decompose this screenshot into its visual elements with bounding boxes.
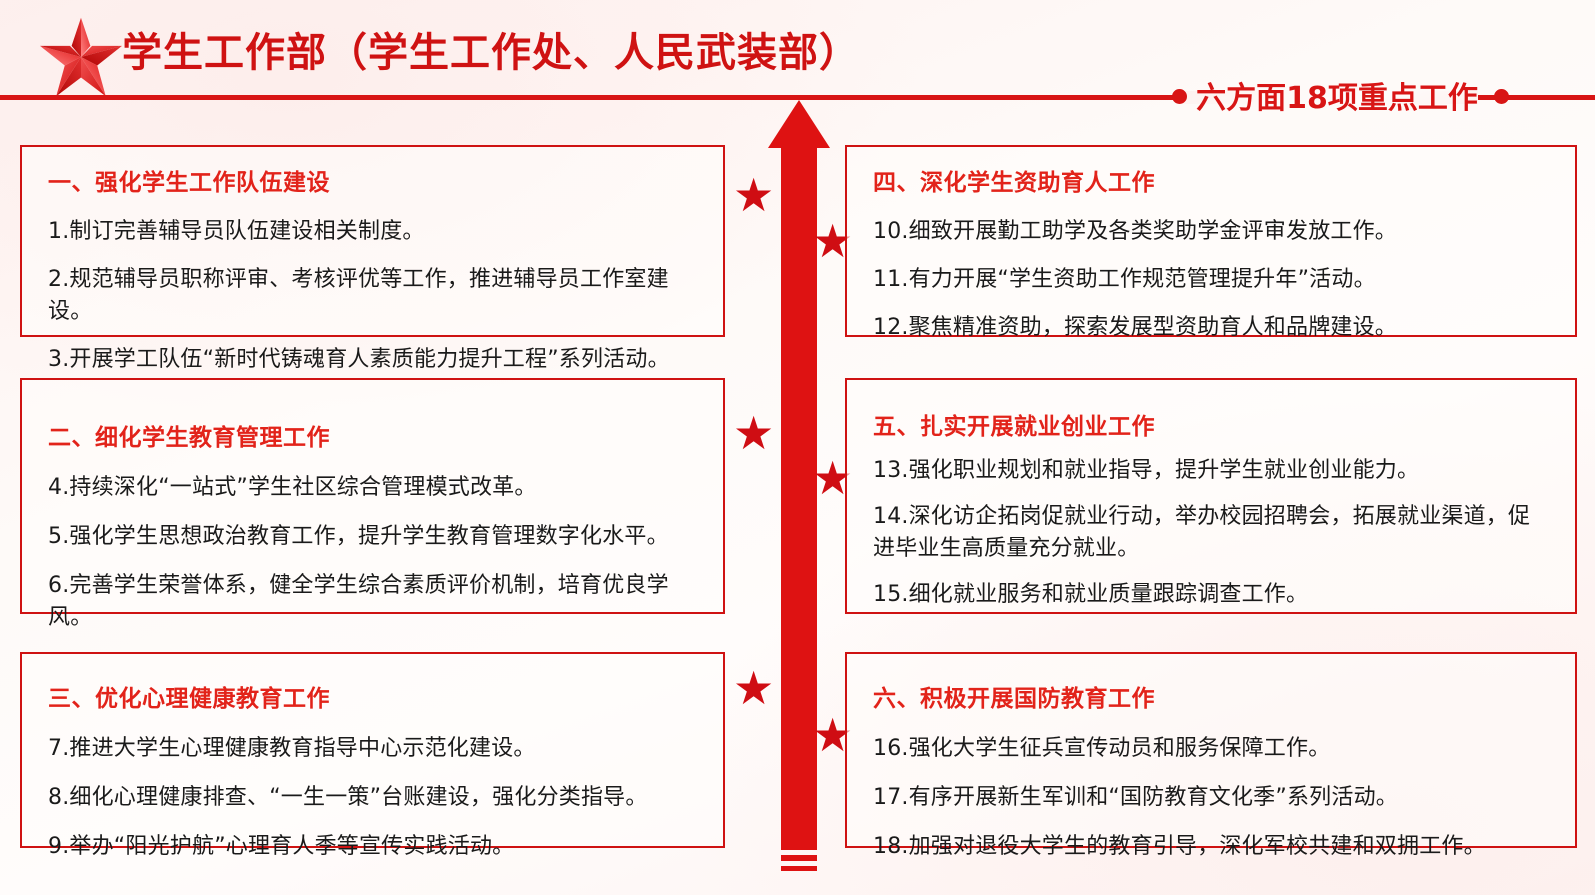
card-3-title: 三、优化心理健康教育工作: [48, 679, 697, 713]
card-4-item-3: 12.聚焦精准资助，探索发展型资助育人和品牌建设。: [873, 309, 1549, 341]
divider-dot-right: [1494, 89, 1509, 104]
card-1-item-3: 3.开展学工队伍“新时代铸魂育人素质能力提升工程”系列活动。: [48, 341, 697, 373]
card-5-title: 五、扎实开展就业创业工作: [873, 407, 1549, 441]
star-left-1: ★: [733, 172, 774, 218]
work-card-3: 三、优化心理健康教育工作 7.推进大学生心理健康教育指导中心示范化建设。 8.细…: [20, 652, 725, 848]
star-left-2: ★: [733, 410, 774, 456]
card-3-item-2: 8.细化心理健康排查、“一生一策”台账建设，强化分类指导。: [48, 779, 697, 811]
red-star-icon: [38, 16, 124, 98]
card-3-item-1: 7.推进大学生心理健康教育指导中心示范化建设。: [48, 730, 697, 762]
card-4-item-2: 11.有力开展“学生资助工作规范管理提升年”活动。: [873, 261, 1549, 293]
card-6-item-2: 17.有序开展新生军训和“国防教育文化季”系列活动。: [873, 779, 1549, 811]
card-2-item-1: 4.持续深化“一站式”学生社区综合管理模式改革。: [48, 469, 697, 501]
card-6-item-1: 16.强化大学生征兵宣传动员和服务保障工作。: [873, 730, 1549, 762]
card-2-title: 二、细化学生教育管理工作: [48, 418, 697, 452]
card-1-item-1: 1.制订完善辅导员队伍建设相关制度。: [48, 213, 697, 245]
card-2-item-2: 5.强化学生思想政治教育工作，提升学生教育管理数字化水平。: [48, 518, 697, 550]
header-subtitle: 六方面18项重点工作: [1186, 73, 1488, 117]
arrow-base-stripe-2: [781, 866, 817, 871]
work-card-6: 六、积极开展国防教育工作 16.强化大学生征兵宣传动员和服务保障工作。 17.有…: [845, 652, 1577, 848]
card-6-item-3: 18.加强对退役大学生的教育引导，深化军校共建和双拥工作。: [873, 828, 1549, 860]
card-5-item-1: 13.强化职业规划和就业指导，提升学生就业创业能力。: [873, 455, 1549, 487]
infographic-poster: 学生工作部（学生工作处、人民武装部） 六方面18项重点工作 ★ ★ ★ ★ ★ …: [0, 0, 1595, 895]
card-4-title: 四、深化学生资助育人工作: [873, 163, 1549, 197]
card-2-item-3: 6.完善学生荣誉体系，健全学生综合素质评价机制，培育优良学风。: [48, 567, 697, 631]
arrow-base-stripe-1: [781, 855, 817, 861]
card-3-item-3: 9.举办“阳光护航”心理育人季等宣传实践活动。: [48, 828, 697, 860]
card-4-item-1: 10.细致开展勤工助学及各类奖助学金评审发放工作。: [873, 213, 1549, 245]
card-1-title: 一、强化学生工作队伍建设: [48, 163, 697, 197]
star-left-3: ★: [733, 665, 774, 711]
work-card-1: 一、强化学生工作队伍建设 1.制订完善辅导员队伍建设相关制度。 2.规范辅导员职…: [20, 145, 725, 337]
card-6-title: 六、积极开展国防教育工作: [873, 679, 1549, 713]
page-title: 学生工作部（学生工作处、人民武装部）: [122, 20, 860, 78]
card-5-item-2: 14.深化访企拓岗促就业行动，举办校园招聘会，拓展就业渠道，促进毕业生高质量充分…: [873, 501, 1549, 565]
card-5-item-3: 15.细化就业服务和就业质量跟踪调查工作。: [873, 579, 1549, 611]
divider-dot-left: [1172, 89, 1187, 104]
work-card-4: 四、深化学生资助育人工作 10.细致开展勤工助学及各类奖助学金评审发放工作。 1…: [845, 145, 1577, 337]
work-card-2: 二、细化学生教育管理工作 4.持续深化“一站式”学生社区综合管理模式改革。 5.…: [20, 378, 725, 614]
work-card-5: 五、扎实开展就业创业工作 13.强化职业规划和就业指导，提升学生就业创业能力。 …: [845, 378, 1577, 614]
arrow-head: [768, 100, 830, 148]
card-1-item-2: 2.规范辅导员职称评审、考核评优等工作，推进辅导员工作室建设。: [48, 261, 697, 325]
